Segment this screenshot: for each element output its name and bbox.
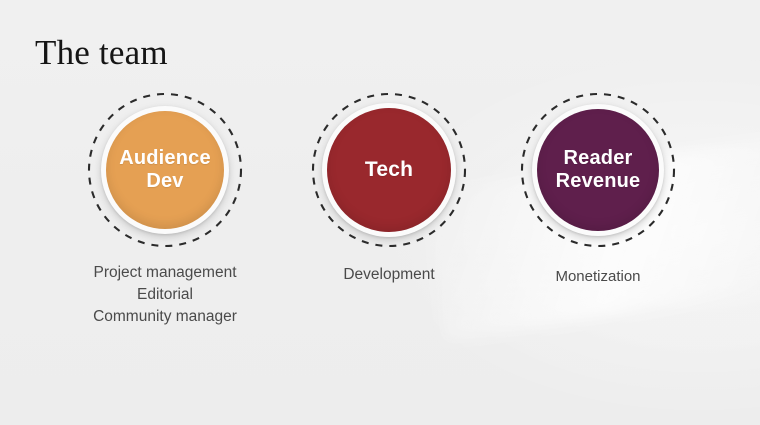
circle-wrapper: Reader Revenue (520, 92, 676, 248)
node-caption: Project management Editorial Community m… (60, 262, 270, 328)
slide-canvas: The team Audience Dev Project management… (0, 0, 760, 425)
team-node-reader-revenue[interactable]: Reader Revenue Monetization (493, 92, 703, 288)
circle-disc[interactable]: Tech (327, 108, 451, 232)
circle-wrapper: Tech (311, 92, 467, 248)
team-node-tech[interactable]: Tech Development (284, 92, 494, 286)
circle-wrapper: Audience Dev (87, 92, 243, 248)
team-node-group: Audience Dev Project management Editoria… (0, 0, 760, 425)
circle-disc[interactable]: Audience Dev (106, 111, 224, 229)
circle-disc[interactable]: Reader Revenue (537, 109, 659, 231)
circle-label: Audience Dev (106, 147, 224, 193)
team-node-audience-dev[interactable]: Audience Dev Project management Editoria… (60, 92, 270, 328)
circle-label: Reader Revenue (537, 147, 659, 193)
node-caption: Monetization (493, 266, 703, 288)
node-caption: Development (284, 264, 494, 286)
circle-label: Tech (327, 158, 451, 182)
